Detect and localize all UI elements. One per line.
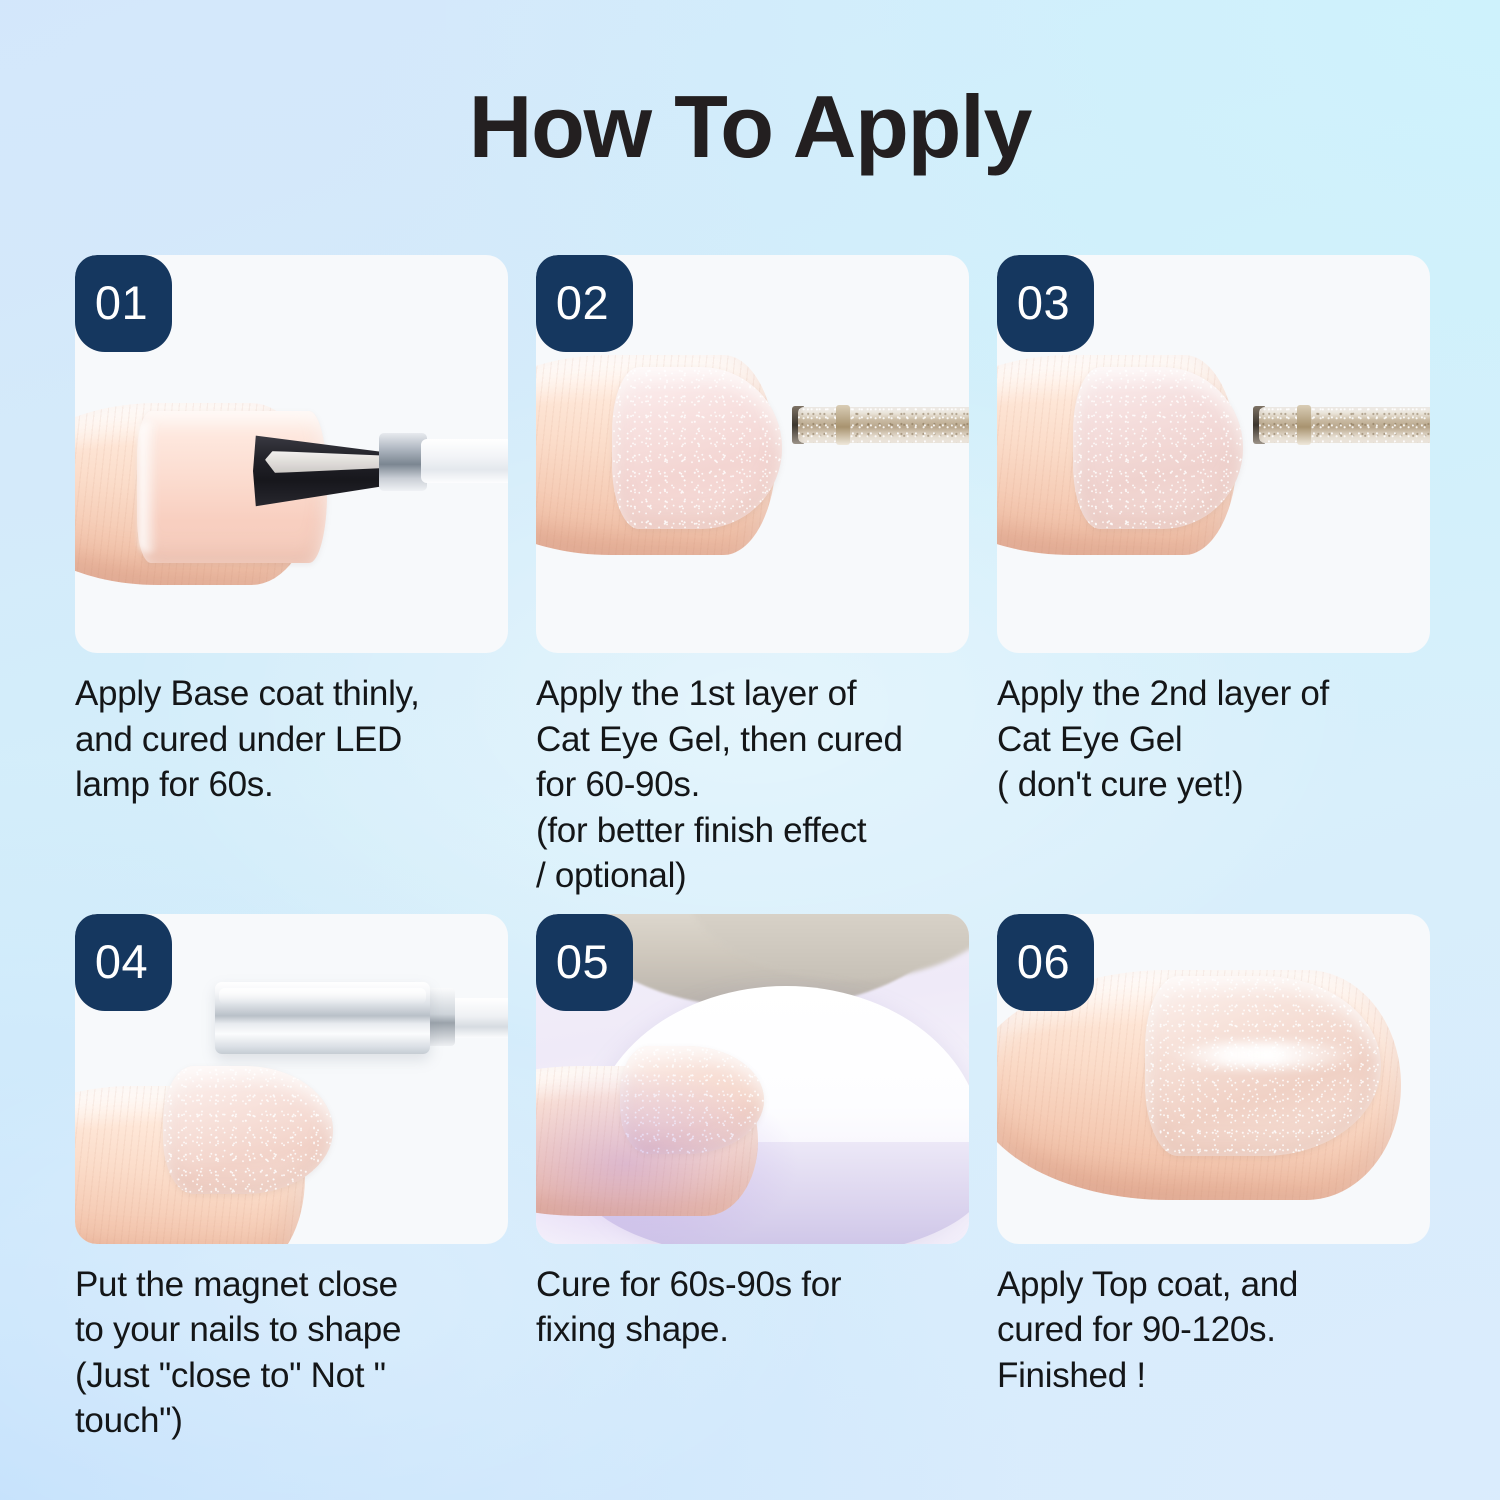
step-02: 02 Apply the 1st layer of Cat Eye Gel, t… xyxy=(536,255,969,899)
brush-ferrule xyxy=(379,433,427,491)
step-number: 06 xyxy=(1017,938,1070,985)
step-06-image-card: 06 xyxy=(997,914,1430,1244)
step-badge-01: 01 xyxy=(75,255,172,352)
gel-applicator-brush xyxy=(798,407,969,443)
step-05: INES® 05 Cure for 60s-90s for fixing sha… xyxy=(536,914,969,1444)
step-01-caption: Apply Base coat thinly, and cured under … xyxy=(75,671,508,808)
step-badge-02: 02 xyxy=(536,255,633,352)
nail-plate xyxy=(1073,367,1243,529)
glitter-shimmer xyxy=(612,367,782,529)
step-03: 03 Apply the 2nd layer of Cat Eye Gel ( … xyxy=(997,255,1430,899)
glitter-shimmer xyxy=(1073,367,1243,529)
steps-grid: 01 Apply Base coat thinly, and cured und… xyxy=(75,255,1430,1444)
nail-plate xyxy=(620,1046,764,1154)
step-badge-04: 04 xyxy=(75,914,172,1011)
applicator-texture xyxy=(798,407,969,443)
steps-row-2: 04 Put the magnet close to your nails to… xyxy=(75,914,1430,1444)
step-04-image-card: 04 xyxy=(75,914,508,1244)
step-number: 05 xyxy=(556,938,609,985)
step-badge-06: 06 xyxy=(997,914,1094,1011)
step-number: 04 xyxy=(95,938,148,985)
step-number: 03 xyxy=(1017,279,1070,326)
step-number: 02 xyxy=(556,279,609,326)
cat-eye-light-line xyxy=(1167,1042,1363,1068)
page-title: How To Apply xyxy=(0,76,1500,178)
magnet-bar xyxy=(215,982,430,1054)
step-01-image-card: 01 xyxy=(75,255,508,653)
glitter-shimmer xyxy=(163,1066,333,1194)
applicator-texture xyxy=(1259,407,1430,443)
step-03-caption: Apply the 2nd layer of Cat Eye Gel ( don… xyxy=(997,671,1430,808)
step-05-caption: Cure for 60s-90s for fixing shape. xyxy=(536,1262,969,1353)
applicator-neck xyxy=(1297,405,1311,445)
magnet-handle xyxy=(447,998,508,1038)
step-03-image-card: 03 xyxy=(997,255,1430,653)
gel-applicator-brush xyxy=(1259,407,1430,443)
step-04: 04 Put the magnet close to your nails to… xyxy=(75,914,508,1444)
step-06: 06 Apply Top coat, and cured for 90-120s… xyxy=(997,914,1430,1444)
poster-root: How To Apply xyxy=(0,0,1500,1500)
step-02-caption: Apply the 1st layer of Cat Eye Gel, then… xyxy=(536,671,969,899)
glitter-shimmer xyxy=(620,1046,764,1154)
step-05-image-card: INES® 05 xyxy=(536,914,969,1244)
step-01: 01 Apply Base coat thinly, and cured und… xyxy=(75,255,508,899)
step-number: 01 xyxy=(95,279,148,326)
steps-row-1: 01 Apply Base coat thinly, and cured und… xyxy=(75,255,1430,899)
step-06-caption: Apply Top coat, and cured for 90-120s. F… xyxy=(997,1262,1430,1399)
step-04-caption: Put the magnet close to your nails to sh… xyxy=(75,1262,508,1444)
step-02-image-card: 02 xyxy=(536,255,969,653)
brush-handle xyxy=(421,439,508,483)
nail-plate xyxy=(163,1066,333,1194)
step-badge-05: 05 xyxy=(536,914,633,1011)
step-badge-03: 03 xyxy=(997,255,1094,352)
applicator-neck xyxy=(836,405,850,445)
nail-plate xyxy=(612,367,782,529)
